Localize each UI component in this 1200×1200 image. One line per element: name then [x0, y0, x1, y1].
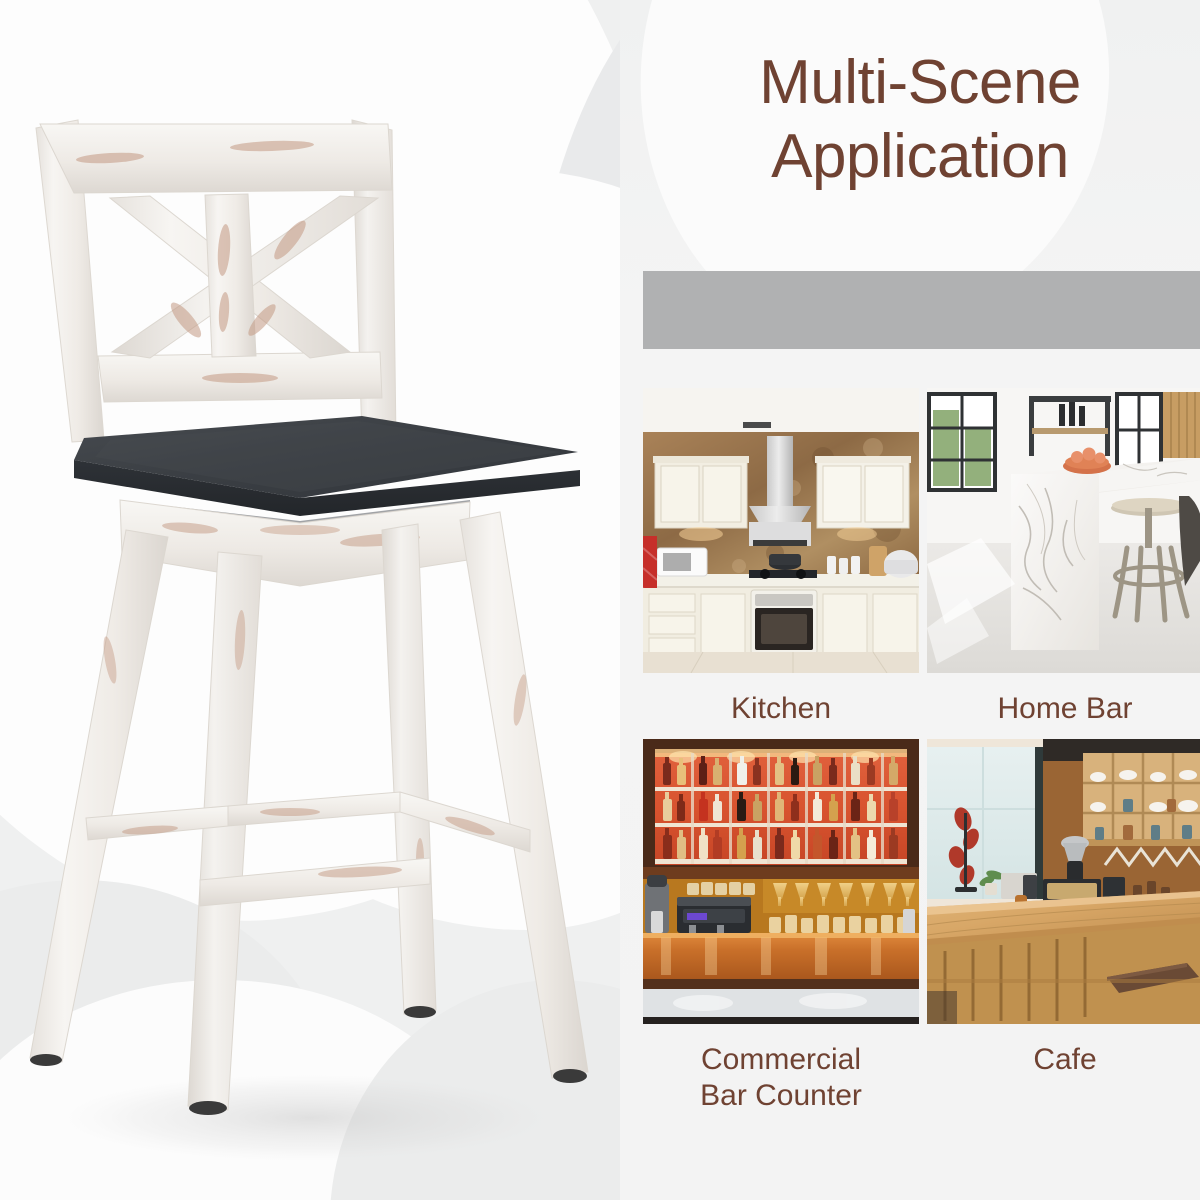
marketing-image: Multi-Scene Application [0, 0, 1200, 1200]
scene-card-cafe[interactable]: Cafe [927, 739, 1200, 1114]
commercial-bar-photo [643, 739, 919, 1024]
page-title: Multi-Scene Application [640, 46, 1200, 194]
swivel-bar-stool [0, 0, 640, 1200]
scene-label-cafe: Cafe [927, 1024, 1200, 1078]
content-pane: Multi-Scene Application [640, 0, 1200, 1200]
home-bar-photo [927, 388, 1200, 673]
scene-card-home-bar[interactable]: Home Bar [927, 388, 1200, 727]
scene-card-commercial-bar[interactable]: Commercial Bar Counter [643, 739, 919, 1114]
scene-card-kitchen[interactable]: Kitchen [643, 388, 919, 727]
scene-row-1: Kitchen [643, 388, 1200, 727]
scene-grid: Kitchen [643, 388, 1200, 1158]
cafe-photo [927, 739, 1200, 1024]
kitchen-photo [643, 388, 919, 673]
scene-label-commercial-bar: Commercial Bar Counter [643, 1024, 919, 1114]
grey-banner [643, 271, 1200, 349]
product-shadow [60, 1074, 560, 1162]
scene-label-kitchen: Kitchen [643, 673, 919, 727]
scene-label-home-bar: Home Bar [927, 673, 1200, 727]
product-pane [0, 0, 640, 1200]
scene-row-2: Commercial Bar Counter [643, 739, 1200, 1114]
